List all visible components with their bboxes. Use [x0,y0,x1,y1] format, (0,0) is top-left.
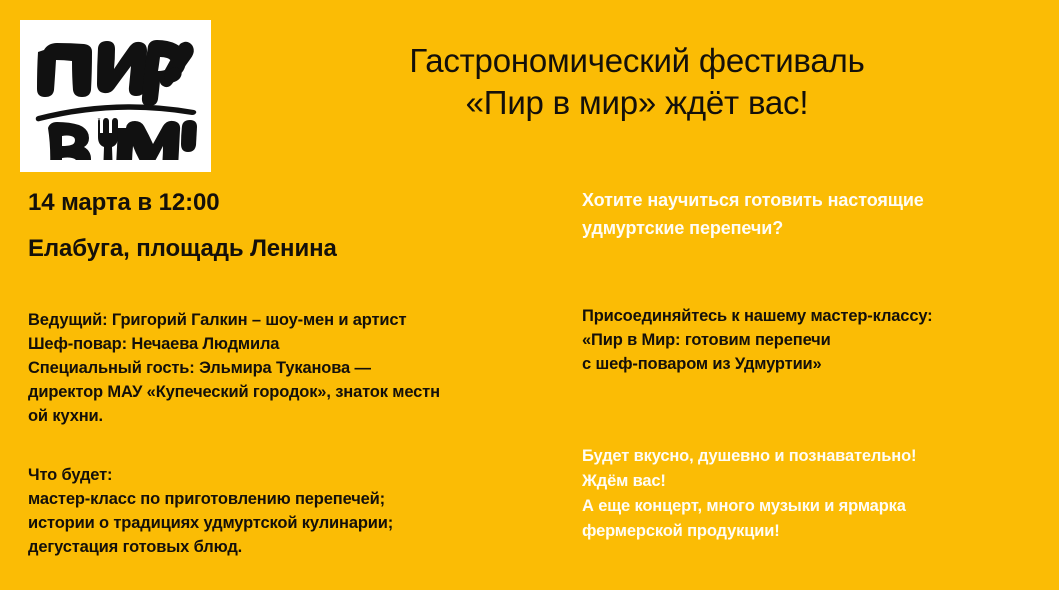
event-location: Елабуга, площадь Ленина [28,232,558,265]
credit-line: Шеф-повар: Нечаева Людмила [28,332,558,356]
program-item: дегустация готовых блюд. [28,535,558,559]
invite-block: Присоединяйтесь к нашему мастер-классу: … [582,304,1047,376]
title-line-1: Гастрономический фестиваль [232,40,1042,82]
program-item: истории о традициях удмуртской кулинарии… [28,511,558,535]
logo-box [20,20,211,172]
credit-line: Специальный гость: Эльмира Туканова — [28,356,558,380]
outro-line: фермерской продукции! [582,519,1047,544]
outro-line: Будет вкусно, душевно и познавательно! [582,444,1047,469]
poster-title: Гастрономический фестиваль «Пир в мир» ж… [232,40,1042,124]
program-item: мастер-класс по приготовлению перепечей; [28,487,558,511]
title-line-2: «Пир в мир» ждёт вас! [232,82,1042,124]
credit-line: Ведущий: Григорий Галкин – шоу-мен и арт… [28,308,558,332]
event-datetime: 14 марта в 12:00 [28,186,558,219]
right-column: Хотите научиться готовить настоящие удму… [582,186,1047,242]
outro-line: Ждём вас! [582,469,1047,494]
question-line-2: удмуртские перепечи? [582,214,1047,242]
credit-line: директор МАУ «Купеческий городок», знато… [28,380,558,404]
invite-line: «Пир в Мир: готовим перепечи [582,328,1047,352]
invite-line: Присоединяйтесь к нашему мастер-классу: [582,304,1047,328]
program-block: Что будет: мастер-класс по приготовлению… [28,463,558,559]
credits-block: Ведущий: Григорий Галкин – шоу-мен и арт… [28,308,558,428]
pir-v-mir-logo [32,32,200,160]
poster-header: Гастрономический фестиваль «Пир в мир» ж… [0,0,1059,178]
invite-line: с шеф-поваром из Удмуртии» [582,352,1047,376]
program-heading: Что будет: [28,463,558,487]
festival-poster: Гастрономический фестиваль «Пир в мир» ж… [0,0,1059,590]
outro-line: А еще концерт, много музыки и ярмарка [582,494,1047,519]
credit-line: ой кухни. [28,404,558,428]
question-line-1: Хотите научиться готовить настоящие [582,186,1047,214]
outro-block: Будет вкусно, душевно и познавательно! Ж… [582,444,1047,544]
event-when-where: 14 марта в 12:00 Елабуга, площадь Ленина [28,186,558,265]
left-column: 14 марта в 12:00 Елабуга, площадь Ленина… [28,186,558,265]
question-block: Хотите научиться готовить настоящие удму… [582,186,1047,242]
